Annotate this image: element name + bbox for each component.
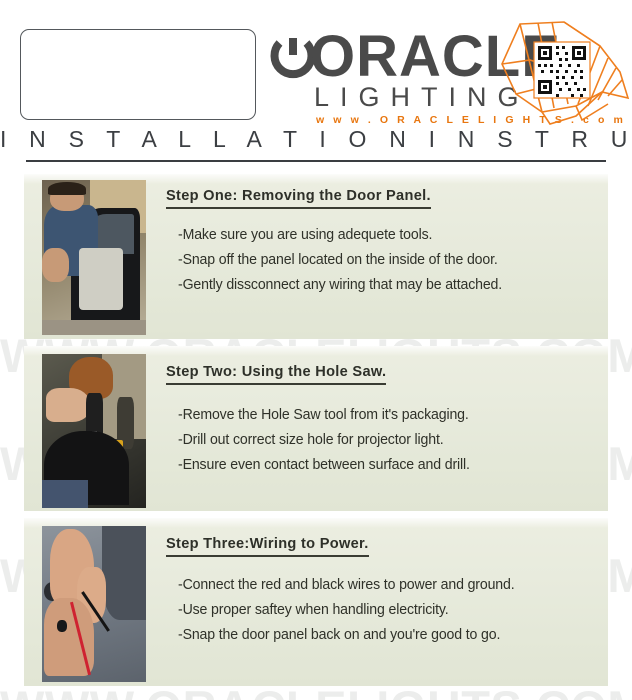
step-one-heading: Step One: Removing the Door Panel. bbox=[166, 188, 431, 209]
step-three-body: Step Three:Wiring to Power. -Connect the… bbox=[166, 518, 602, 686]
page-title: I N S T A L L A T I O N I N S T R U C T … bbox=[0, 126, 632, 153]
product-image-placeholder-box bbox=[20, 29, 256, 120]
oracle-lighting-logo: ORACLE LIGHTING w w w . O R A C L E L I … bbox=[262, 22, 632, 122]
list-item: -Remove the Hole Saw tool from it's pack… bbox=[178, 402, 470, 427]
list-item: -Ensure even contact between surface and… bbox=[178, 452, 470, 477]
step-one-body: Step One: Removing the Door Panel. -Make… bbox=[166, 174, 602, 339]
step-two-photo-hole-saw bbox=[42, 354, 146, 508]
list-item: -Connect the red and black wires to powe… bbox=[178, 572, 515, 597]
list-item: -Snap off the panel located on the insid… bbox=[178, 247, 502, 272]
step-panel: Step Two: Using the Hole Saw. -Remove th… bbox=[24, 346, 608, 511]
step-panel: Step Three:Wiring to Power. -Connect the… bbox=[24, 518, 608, 686]
list-item: -Snap the door panel back on and you're … bbox=[178, 622, 515, 647]
winged-qr-badge-icon bbox=[490, 20, 632, 130]
list-item: -Make sure you are using adequete tools. bbox=[178, 222, 502, 247]
step-three-bullet-list: -Connect the red and black wires to powe… bbox=[178, 572, 540, 647]
steps-container: WWW.ORACLELIGHTS.COM WWW.ORACLELIGHTS.CO… bbox=[0, 168, 632, 700]
step-one-bullet-list: -Make sure you are using adequete tools.… bbox=[178, 222, 526, 297]
step-two-body: Step Two: Using the Hole Saw. -Remove th… bbox=[166, 346, 602, 511]
step-three-photo-wiring bbox=[42, 526, 146, 682]
list-item: -Use proper saftey when handling electri… bbox=[178, 597, 515, 622]
qr-code-icon bbox=[534, 42, 590, 98]
step-one-photo-door-panel bbox=[42, 180, 146, 335]
step-three-heading: Step Three:Wiring to Power. bbox=[166, 536, 369, 557]
title-divider-rule bbox=[26, 160, 606, 162]
installation-instructions-title-wrap: I N S T A L L A T I O N I N S T R U C T … bbox=[0, 126, 632, 153]
step-panel: Step One: Removing the Door Panel. -Make… bbox=[24, 174, 608, 339]
list-item: -Gently dissconnect any wiring that may … bbox=[178, 272, 502, 297]
list-item: -Drill out correct size hole for project… bbox=[178, 427, 470, 452]
step-two-heading: Step Two: Using the Hole Saw. bbox=[166, 364, 386, 385]
step-two-bullet-list: -Remove the Hole Saw tool from it's pack… bbox=[178, 402, 492, 477]
page-header: ORACLE LIGHTING w w w . O R A C L E L I … bbox=[0, 0, 632, 168]
